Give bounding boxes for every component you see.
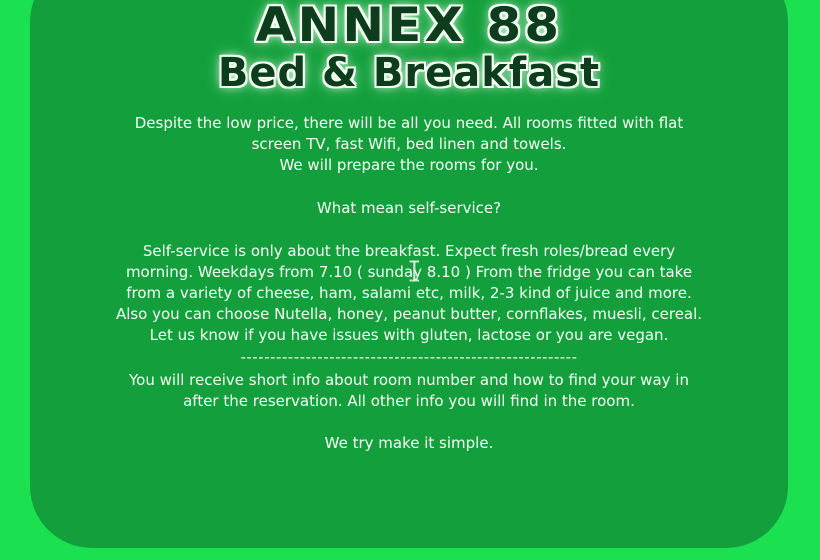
spacer: [54, 176, 764, 198]
dashed-divider: ----------------------------------------…: [54, 348, 764, 366]
intro-paragraph: Despite the low price, there will be all…: [54, 113, 764, 176]
self-service-paragraph: Self-service is only about the breakfast…: [54, 241, 764, 346]
reservation-paragraph: You will receive short info about room n…: [54, 370, 764, 412]
body-copy: Despite the low price, there will be all…: [30, 113, 788, 454]
logo-title-line-1: ANNEX 88: [30, 2, 788, 52]
brand-logo: ANNEX 88 Bed & Breakfast: [30, 0, 788, 93]
closing-paragraph: We try make it simple.: [54, 433, 764, 454]
spacer: [54, 412, 764, 433]
spacer: [54, 219, 764, 241]
card-content: ANNEX 88 Bed & Breakfast Despite the low…: [30, 0, 788, 548]
logo-title-line-2: Bed & Breakfast: [30, 53, 788, 93]
self-service-question: What mean self-service?: [54, 198, 764, 219]
info-card: ANNEX 88 Bed & Breakfast Despite the low…: [30, 0, 788, 548]
